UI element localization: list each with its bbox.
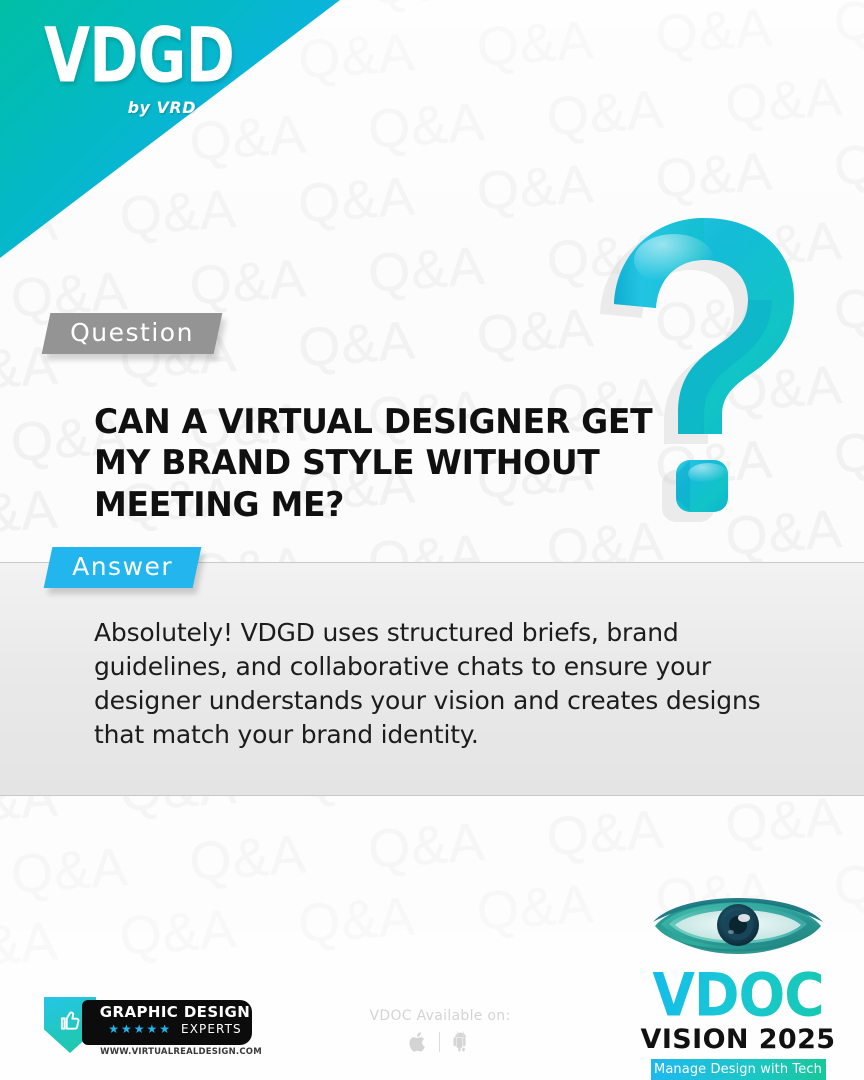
brand-name: VDGD (44, 18, 234, 94)
graphic-design-experts-badge: GRAPHIC DESIGN ★★★★★ EXPERTS WWW.VIRTUAL… (44, 997, 252, 1063)
watermark-text: Q&A (832, 420, 864, 482)
watermark-text: Q&A (366, 0, 487, 13)
brand-logo: VDGD by VRD (44, 18, 242, 117)
android-icon[interactable] (451, 1031, 471, 1053)
watermark-text: Q&A (297, 25, 418, 87)
watermark-text: Q&A (297, 889, 418, 951)
divider-bottom (0, 795, 864, 796)
watermark-text: Q&A (475, 877, 596, 939)
store-separator (439, 1032, 440, 1052)
vdoc-tagline: Manage Design with Tech (651, 1059, 826, 1080)
thumbs-up-icon (57, 1012, 83, 1038)
answer-tag: Answer (44, 547, 202, 588)
star-rating-icon: ★★★★★ (108, 1023, 172, 1035)
question-tag: Question (42, 313, 223, 354)
watermark-text: Q&A (475, 301, 596, 363)
brand-subtitle: by VRD (44, 98, 196, 117)
watermark-text: Q&A (297, 313, 418, 375)
faq-poster: Q&AQ&AQ&AQ&AQ&AQ&A Q&AQ&AQ&AQ&AQ&AQ&A Q&… (0, 0, 864, 1080)
watermark-text: Q&A (0, 482, 60, 544)
eye-icon (630, 886, 846, 972)
watermark-text: Q&A (545, 82, 666, 144)
badge-title: GRAPHIC DESIGN (82, 1004, 252, 1021)
watermark-text: Q&A (366, 815, 487, 877)
answer-body-text: Absolutely! VDGD uses structured briefs,… (94, 616, 806, 752)
watermark-text: Q&A (366, 95, 487, 157)
watermark-text: Q&A (724, 790, 845, 852)
watermark-text: Q&A (9, 840, 130, 902)
watermark-text: Q&A (188, 251, 309, 313)
watermark-text: Q&A (118, 182, 239, 244)
store-availability-label: VDOC Available on: (330, 1008, 550, 1024)
answer-tag-label: Answer (72, 554, 173, 580)
watermark-text: Q&A (475, 157, 596, 219)
watermark-text: Q&A (188, 827, 309, 889)
watermark-text: Q&A (366, 239, 487, 301)
question-tag-label: Question (70, 320, 194, 346)
watermark-text: Q&A (475, 13, 596, 75)
vdoc-logo-lockup: VDOC VISION 2025 Manage Design with Tech (630, 886, 846, 1080)
apple-icon[interactable] (409, 1031, 428, 1053)
watermark-text: Q&A (832, 276, 864, 338)
badge-experts-label: EXPERTS (181, 1023, 242, 1035)
watermark-text: Q&A (297, 169, 418, 231)
badge-website-url: WWW.VIRTUALREALDESIGN.COM (82, 1047, 266, 1057)
vdoc-wordmark: VDOC (630, 966, 846, 1025)
watermark-text: Q&A (724, 70, 845, 132)
badge-plate: GRAPHIC DESIGN ★★★★★ EXPERTS (82, 1000, 252, 1045)
vdoc-vision-text: VISION 2025 (630, 1026, 846, 1053)
question-heading: CAN A VIRTUAL DESIGNER GET MY BRAND STYL… (94, 402, 676, 526)
store-availability-block: VDOC Available on: (330, 1008, 550, 1053)
watermark-text: Q&A (545, 802, 666, 864)
watermark-text: Q&A (654, 144, 775, 206)
watermark-text: Q&A (118, 902, 239, 964)
watermark-text: Q&A (0, 914, 60, 976)
watermark-text: Q&A (832, 132, 864, 194)
store-icon-row (330, 1031, 550, 1053)
watermark-text: Q&A (654, 0, 775, 62)
badge-rating-row: ★★★★★ EXPERTS (82, 1023, 252, 1035)
watermark-text: Q&A (832, 0, 864, 50)
